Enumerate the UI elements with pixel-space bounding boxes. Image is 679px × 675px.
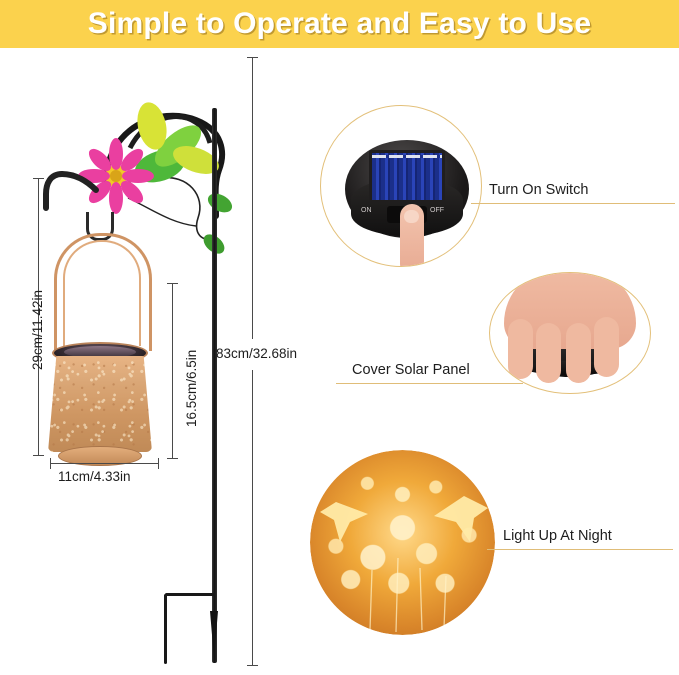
finger xyxy=(508,319,533,379)
callout-circle-cover xyxy=(489,272,651,394)
dimension-tick xyxy=(33,455,44,456)
dimension-line-lantern-diameter xyxy=(50,463,158,464)
dimension-line-stake-upper xyxy=(252,57,253,339)
lantern-handle-inner xyxy=(63,240,141,346)
switch-on-label: ON xyxy=(361,207,372,214)
callout-label-cover-solar-panel: Cover Solar Panel xyxy=(352,362,470,378)
dimension-label-stake-height: 83cm/32.68in xyxy=(216,346,297,361)
callout-underline-glow xyxy=(487,549,673,550)
dimension-tick xyxy=(167,458,178,459)
stake-pole xyxy=(212,108,217,663)
dimension-label-body-height: 16.5cm/6.5in xyxy=(184,350,199,427)
finger xyxy=(566,323,591,383)
page-title: Simple to Operate and Easy to Use xyxy=(88,7,591,41)
hummingbird-silhouettes xyxy=(310,450,495,635)
dimension-tick xyxy=(167,283,178,284)
solar-panel-cells xyxy=(369,150,445,203)
product-diagram-panel: 29cm/11.42in 16.5cm/6.5in 11cm/4.33in 83… xyxy=(0,48,300,675)
dimension-label-lantern-height: 29cm/11.42in xyxy=(30,290,45,370)
lantern-body xyxy=(48,356,152,452)
stake-ground-spike xyxy=(210,611,218,659)
dimension-tick xyxy=(247,57,258,58)
callout-label-light-up-at-night: Light Up At Night xyxy=(503,528,612,544)
finger xyxy=(594,317,619,377)
callout-label-turn-on-switch: Turn On Switch xyxy=(489,182,588,198)
dimension-line-stake-lower xyxy=(252,370,253,665)
dimension-tick xyxy=(33,178,44,179)
stake-pedal-leg xyxy=(164,594,167,664)
callout-circle-switch: ON OFF xyxy=(320,105,482,267)
lantern-product xyxy=(42,234,157,449)
callout-underline-cover xyxy=(336,383,523,384)
dimension-label-lantern-diameter: 11cm/4.33in xyxy=(58,469,131,484)
finger xyxy=(536,323,561,383)
dimension-line-body-height xyxy=(172,283,173,458)
callout-circle-glow xyxy=(310,450,495,635)
fingernail xyxy=(404,210,419,223)
dimension-tick xyxy=(247,665,258,666)
switch-off-label: OFF xyxy=(430,207,444,214)
header-banner: Simple to Operate and Easy to Use xyxy=(0,0,679,48)
dimension-tick xyxy=(158,458,159,469)
callout-underline-switch xyxy=(471,203,675,204)
stake-foot-pedal xyxy=(165,593,215,596)
dimension-tick xyxy=(50,458,51,469)
pink-flower-ornament xyxy=(78,138,154,214)
